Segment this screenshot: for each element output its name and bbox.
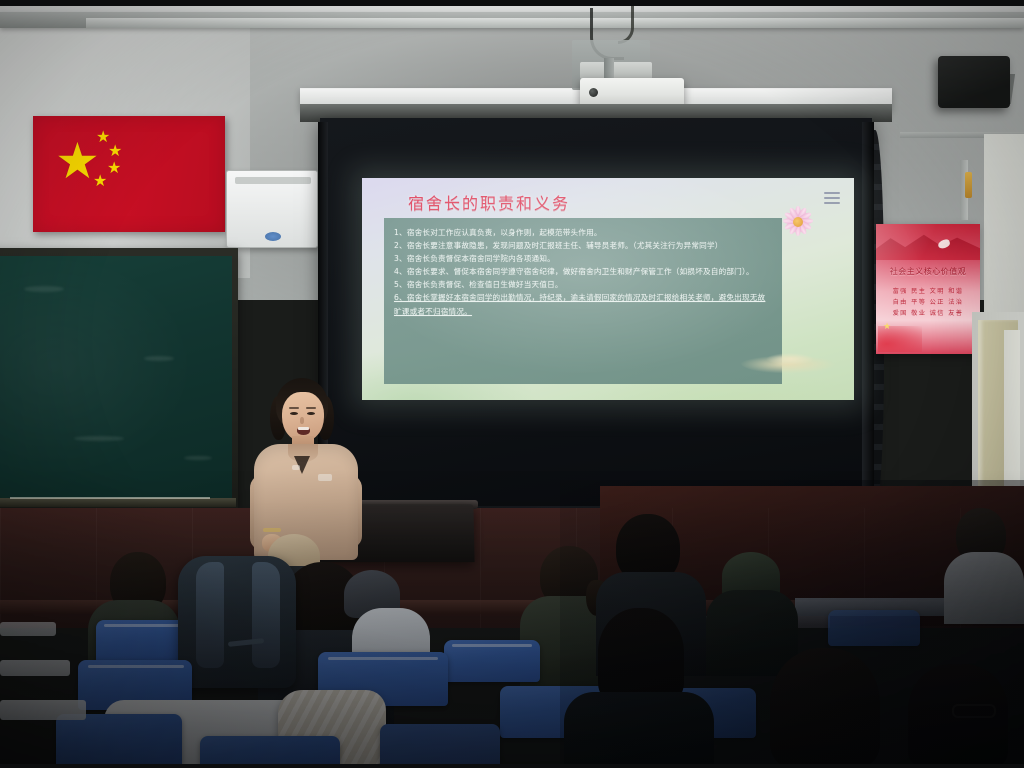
shirt-logo — [318, 474, 332, 481]
student-center-second-row — [598, 608, 684, 704]
slide-bullet-6: 6、宿舍长掌握好本宿舍同学的出勤情况，持纪录，逾未请假回家的情况及时汇报给相关老… — [394, 291, 770, 317]
chair-highlight — [88, 665, 184, 668]
glasses-icon — [952, 704, 996, 718]
poster-glare — [876, 224, 980, 354]
presenter-nose — [300, 417, 304, 424]
beam-rail — [86, 18, 1024, 28]
socialist-core-values-poster: 社会主义核心价值观 富强 民主 文明 和谐 自由 平等 公正 法治 爱国 敬业 … — [876, 224, 980, 354]
presenter-eyebrow-right — [306, 407, 316, 409]
lecture-hall-photo: ★ ★ ★ ★ ★ 宿舍长的职责和义务 — [0, 0, 1024, 768]
slide-bullet-5: 5、宿舍长负责督促、检查值日生做好当天值日。 — [394, 278, 770, 291]
desk-mid-left — [0, 660, 70, 676]
flag-star-4: ★ — [93, 174, 107, 190]
chalk-smudge — [24, 286, 64, 292]
student-center-second-row-body — [564, 692, 714, 768]
chair-front-left[interactable] — [56, 714, 182, 768]
slide-body-textbox: 1、宿舍长对工作应认真负责，以身作则，起模范带头作用。 2、宿舍长要注意事故隐患… — [384, 218, 782, 384]
chalk-smudge — [144, 356, 174, 361]
desk-back-left — [0, 622, 56, 636]
backpack-strap-right — [252, 562, 280, 668]
three-lines-icon — [824, 192, 840, 204]
flag-star-3: ★ — [107, 161, 121, 177]
wall-control-panel[interactable] — [226, 170, 318, 248]
screen-edge-right — [862, 122, 874, 508]
backpack-strap-left — [196, 562, 224, 668]
presenter-eye-left — [290, 412, 298, 415]
shirt-badge — [292, 465, 300, 470]
photo-top-edge — [0, 0, 1024, 6]
chair-back-right[interactable] — [828, 610, 920, 646]
slide-bullet-1: 1、宿舍长对工作应认真负责，以身作则，起模范带头作用。 — [394, 226, 770, 239]
presenter-teeth — [298, 427, 309, 430]
projector-vent — [580, 62, 652, 79]
slide-bullet-4: 4、宿舍长要求、督促本宿舍同学遵守宿舍纪律，做好宿舍内卫生和财产保管工作（如损坏… — [394, 265, 770, 278]
chair-highlight — [452, 644, 532, 647]
projector-lens-icon — [589, 88, 598, 97]
desk-front-left — [0, 700, 86, 720]
control-panel-logo — [265, 232, 281, 241]
slide-title: 宿舍长的职责和义务 — [408, 190, 570, 214]
flower-center — [793, 217, 803, 227]
chair-highlight — [104, 624, 184, 627]
female-presenter — [236, 378, 368, 560]
chalkboard-rail-highlight — [10, 497, 210, 499]
chinese-national-flag: ★ ★ ★ ★ ★ — [33, 116, 225, 232]
student-right-long-hair — [770, 648, 880, 768]
control-panel-slot — [235, 177, 311, 184]
slide-bullet-2: 2、宿舍长要注意事故隐患，发现问题及时汇报班主任、辅导员老师。（尤其关注行为异常… — [394, 239, 770, 252]
chalk-smudge — [74, 436, 124, 441]
wall-hook — [965, 172, 972, 198]
wall-speaker — [938, 56, 1010, 108]
ceiling-beam — [0, 12, 1024, 28]
chalkboard-rail — [0, 498, 236, 507]
daisy-flower-icon — [780, 204, 816, 238]
slide-bullet-3: 3、宿舍长负责督促本宿舍同学院内各项通知。 — [394, 252, 770, 265]
presenter-eyebrow-left — [289, 407, 299, 409]
right-wall-panel — [984, 134, 1024, 320]
flag-star-2: ★ — [108, 144, 122, 160]
presentation-slide: 宿舍长的职责和义务 1、宿舍长对工作应认真负责，以身作则，起模范带头作用。 2、… — [362, 178, 854, 400]
presenter-bracelet — [263, 528, 281, 532]
chalk-smudge — [184, 456, 212, 460]
cloud-decoration-2 — [766, 352, 814, 366]
chair-front-center-2[interactable] — [380, 724, 500, 768]
presenter-eye-right — [307, 412, 315, 415]
photo-bottom-edge — [0, 764, 1024, 768]
chair-highlight — [328, 657, 438, 660]
student-far-right-body — [944, 552, 1024, 624]
green-chalkboard — [0, 256, 232, 500]
